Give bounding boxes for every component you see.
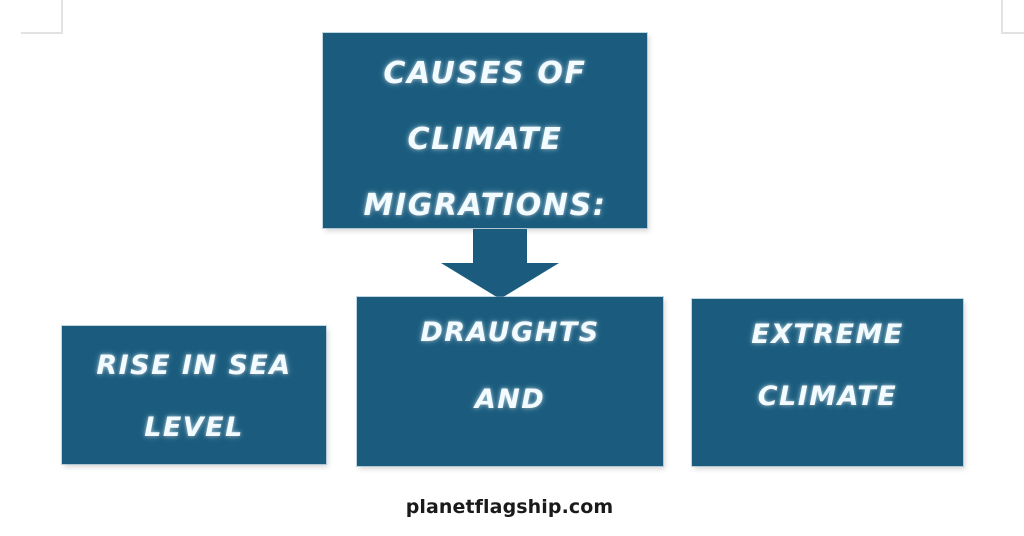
- crop-mark-top-left: [21, 0, 63, 34]
- flowchart-node-causes-of-climate-migrations: CAUSES OF CLIMATE MIGRATIONS:: [323, 33, 647, 228]
- source-caption: planetflagship.com: [0, 496, 1019, 518]
- flowchart-node-rise-in-sea-level: RISE IN SEA LEVEL: [62, 326, 326, 464]
- node-sea-line-1: RISE IN SEA: [96, 352, 291, 379]
- node-title-line-3: MIGRATIONS:: [363, 191, 606, 221]
- node-title-line-1: CAUSES OF: [383, 59, 586, 89]
- node-draughts-line-1: DRAUGHTS: [420, 319, 599, 346]
- node-extreme-line-1: EXTREME: [751, 321, 904, 348]
- node-draughts-line-2: AND: [475, 386, 545, 413]
- diagram-canvas: CAUSES OF CLIMATE MIGRATIONS: RISE IN SE…: [0, 0, 1024, 536]
- node-title-line-2: CLIMATE: [407, 125, 562, 155]
- crop-mark-top-right: [1001, 0, 1024, 34]
- flowchart-node-extreme-climate: EXTREME CLIMATE: [692, 299, 963, 466]
- node-sea-line-2: LEVEL: [144, 414, 244, 441]
- node-extreme-line-2: CLIMATE: [758, 383, 898, 410]
- flowchart-node-draughts-and: DRAUGHTS AND: [357, 297, 663, 466]
- down-arrow-icon: [441, 229, 559, 299]
